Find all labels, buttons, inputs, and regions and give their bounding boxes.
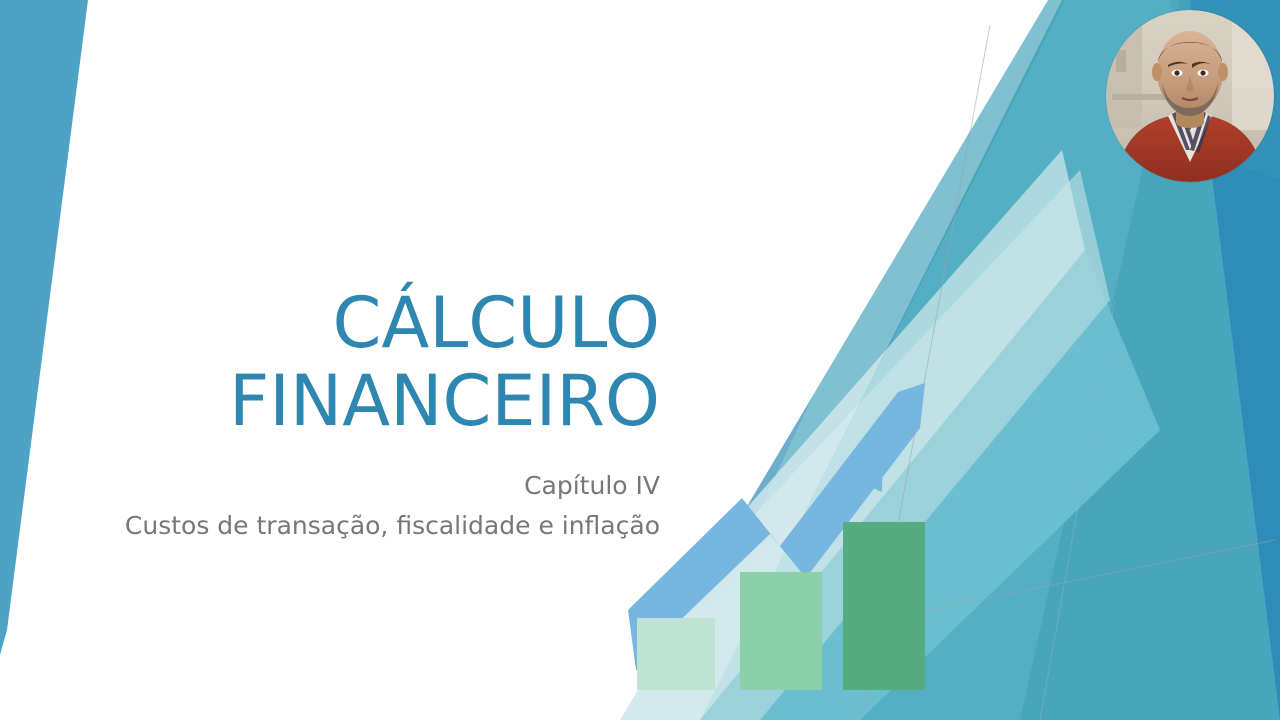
shelf-line [1112, 94, 1170, 100]
bar-high [843, 522, 925, 690]
presentation-slide: CÁLCULO FINANCEIRO Capítulo IV Custos de… [0, 0, 1280, 720]
title-container: CÁLCULO FINANCEIRO [60, 284, 660, 441]
page-title: CÁLCULO FINANCEIRO [60, 284, 660, 441]
ear-left [1152, 63, 1162, 81]
presenter-webcam-bubble[interactable] [1106, 10, 1274, 182]
subtitle-container: Capítulo IV Custos de transação, fiscali… [60, 466, 660, 545]
ear-right [1218, 63, 1228, 81]
wall-object [1116, 50, 1126, 72]
pupil-left [1174, 70, 1179, 75]
growth-chart-illustration [620, 370, 950, 710]
webcam-video-frame [1106, 10, 1274, 182]
webcam-content [1106, 10, 1274, 182]
pupil-right [1200, 70, 1205, 75]
bar-medium [740, 572, 822, 690]
bar-low [637, 618, 715, 690]
subtitle-topics: Custos de transação, fiscalidade e infla… [60, 506, 660, 546]
subtitle-chapter: Capítulo IV [60, 466, 660, 506]
